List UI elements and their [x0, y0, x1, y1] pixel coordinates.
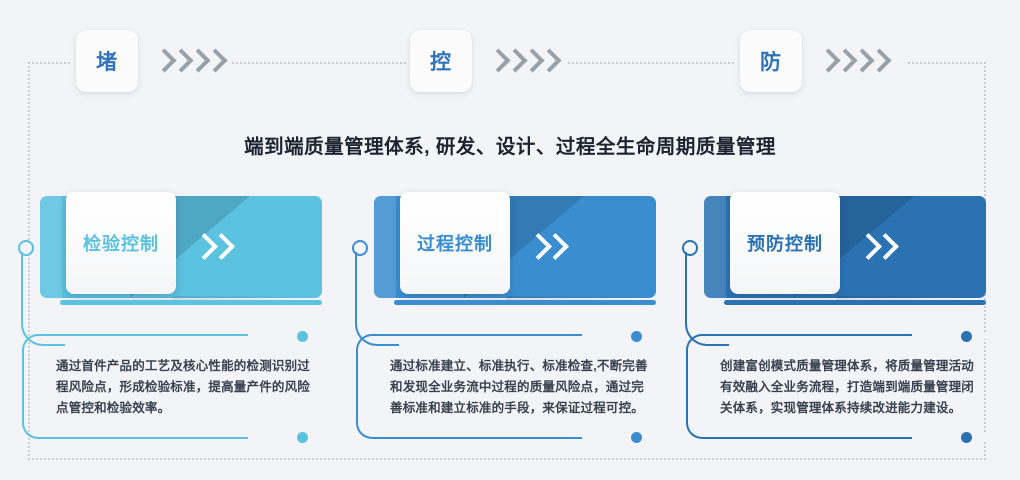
card-1-label: 检验控制: [83, 230, 159, 256]
top-step-1-chevrons: [154, 48, 220, 75]
top-step-3[interactable]: 防: [740, 30, 884, 92]
top-step-2-label: 控: [430, 46, 452, 76]
description-2: 通过标准建立、标准执行、标准检查,不断完善和发现全业务流中过程的质量风险点，通过…: [356, 334, 656, 439]
description-1-box: 通过首件产品的工艺及核心性能的检测识别过程风险点，形成检验标准，提高量产件的风险…: [22, 334, 322, 439]
top-step-1[interactable]: 堵: [76, 30, 220, 92]
card-2-left-shade: [374, 196, 396, 298]
page-title: 端到端质量管理体系, 研发、设计、过程全生命周期质量管理: [0, 130, 1020, 159]
top-step-3-chevrons: [818, 48, 884, 75]
chevron-right-icon: [488, 48, 503, 75]
column-3: 预防控制: [686, 196, 986, 304]
chevron-right-icon: [211, 232, 227, 262]
top-step-2[interactable]: 控: [410, 30, 554, 92]
description-1-bottom-dot: [297, 432, 308, 443]
card-2-tile[interactable]: 过程控制: [400, 192, 510, 294]
card-1-tile[interactable]: 检验控制: [66, 192, 176, 294]
chevron-right-icon: [154, 48, 169, 75]
top-step-1-tile[interactable]: 堵: [76, 30, 138, 92]
card-3-chevrons: [858, 232, 891, 262]
card-2-chevrons: [528, 232, 561, 262]
chevron-right-icon: [171, 48, 186, 75]
top-step-row: 堵 控 防: [0, 0, 1020, 110]
top-step-3-tile[interactable]: 防: [740, 30, 802, 92]
infographic-stage: 堵 控 防: [0, 0, 1020, 480]
card-3-left-shade: [704, 196, 726, 298]
description-2-box: 通过标准建立、标准执行、标准检查,不断完善和发现全业务流中过程的质量风险点，通过…: [356, 334, 656, 439]
chevron-right-icon: [835, 48, 850, 75]
chevron-right-icon: [869, 48, 884, 75]
description-3-top-dot: [961, 331, 972, 342]
description-2-bottom-dot: [631, 432, 642, 443]
chevron-right-icon: [818, 48, 833, 75]
description-2-text: 通过标准建立、标准执行、标准检查,不断完善和发现全业务流中过程的质量风险点，通过…: [390, 356, 650, 419]
description-2-bottom-gap: [582, 434, 656, 440]
description-1-top-dot: [297, 331, 308, 342]
column-1: 检验控制: [22, 196, 322, 304]
chevron-right-icon: [539, 48, 554, 75]
column-2: 过程控制: [356, 196, 656, 304]
top-step-3-label: 防: [760, 46, 782, 76]
chevron-right-icon: [852, 48, 867, 75]
description-1-bottom-gap: [248, 434, 322, 440]
chevron-right-icon: [505, 48, 520, 75]
description-2-top-dot: [631, 331, 642, 342]
card-1-under-bar: [60, 300, 322, 305]
top-step-2-chevrons: [488, 48, 554, 75]
card-3-label: 预防控制: [747, 230, 823, 256]
card-2[interactable]: 过程控制: [356, 196, 656, 304]
description-3-box: 创建富创模式质量管理体系，将质量管理活动有效融入全业务流程，打造端到端质量管理闭…: [686, 334, 986, 439]
description-1-text: 通过首件产品的工艺及核心性能的检测识别过程风险点，形成检验标准，提高量产件的风险…: [56, 356, 316, 419]
description-3: 创建富创模式质量管理体系，将质量管理活动有效融入全业务流程，打造端到端质量管理闭…: [686, 334, 986, 439]
card-3-under-bar: [724, 300, 986, 305]
top-step-1-label: 堵: [96, 46, 118, 76]
chevron-right-icon: [522, 48, 537, 75]
description-1: 通过首件产品的工艺及核心性能的检测识别过程风险点，形成检验标准，提高量产件的风险…: [22, 334, 322, 439]
top-step-2-tile[interactable]: 控: [410, 30, 472, 92]
card-1[interactable]: 检验控制: [22, 196, 322, 304]
card-3-tile[interactable]: 预防控制: [730, 192, 840, 294]
card-1-left-shade: [40, 196, 62, 298]
description-3-bottom-dot: [961, 432, 972, 443]
card-3[interactable]: 预防控制: [686, 196, 986, 304]
description-3-bottom-gap: [912, 434, 986, 440]
chevron-right-icon: [875, 232, 891, 262]
chevron-right-icon: [545, 232, 561, 262]
card-1-chevrons: [194, 232, 227, 262]
description-1-top-gap: [248, 333, 322, 339]
chevron-right-icon: [205, 48, 220, 75]
description-3-top-gap: [912, 333, 986, 339]
description-2-top-gap: [582, 333, 656, 339]
card-2-label: 过程控制: [417, 230, 493, 256]
card-2-under-bar: [394, 300, 656, 305]
chevron-right-icon: [188, 48, 203, 75]
description-3-text: 创建富创模式质量管理体系，将质量管理活动有效融入全业务流程，打造端到端质量管理闭…: [720, 356, 980, 419]
